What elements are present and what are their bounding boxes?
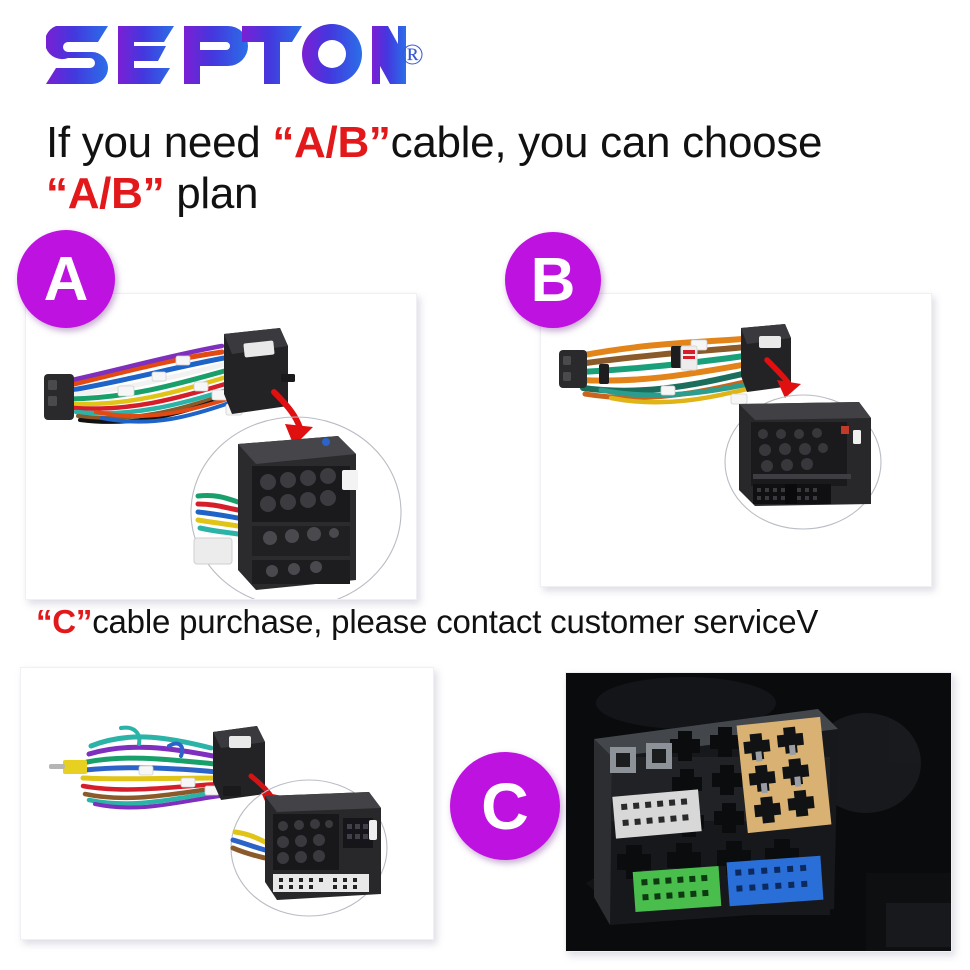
blue-module — [727, 856, 824, 906]
headline-text: If you need “A/B”cable, you can choose “… — [46, 117, 946, 219]
badge-a-label: A — [44, 244, 89, 315]
septon-wordmark — [46, 22, 406, 84]
harness-illustration-a — [26, 294, 416, 599]
septon-logo: ® — [46, 22, 446, 100]
quadlock-connector-c — [265, 792, 381, 900]
panel-b-image — [540, 293, 932, 587]
quadlock-connector-a — [238, 436, 358, 590]
panel-c-image — [20, 667, 434, 940]
quadlock-connector-b — [739, 402, 871, 506]
red-arrow-icon-a — [274, 392, 313, 446]
badge-b-label: B — [531, 245, 576, 316]
white-module — [612, 789, 701, 838]
harness-illustration-c — [21, 668, 433, 939]
panel-a-image — [25, 293, 417, 600]
panel-photo-vehicle-socket — [565, 672, 952, 952]
subline-highlight-c: “C” — [36, 603, 92, 640]
poster-canvas: ® If you need “A/B”cable, you can choose… — [0, 0, 970, 970]
socket-body — [594, 709, 838, 925]
harness-illustration-b — [541, 294, 931, 586]
green-module — [633, 866, 722, 912]
rca-connector-yellow — [49, 760, 87, 774]
subline-text: “C”cable purchase, please contact custom… — [36, 604, 966, 640]
subline-body: cable purchase, please contact customer … — [92, 603, 818, 640]
harness-module-c — [213, 726, 265, 800]
beige-module — [737, 717, 832, 833]
headline-part1: If you need — [46, 118, 272, 167]
badge-c: C — [450, 752, 560, 860]
headline-part3: plan — [164, 169, 258, 218]
headline-part2: cable, you can choose — [391, 118, 823, 167]
badge-b: B — [505, 232, 601, 328]
vehicle-socket-photo — [566, 673, 951, 951]
registered-trademark-icon: ® — [401, 40, 424, 70]
headline-highlight-ab-1: “A/B” — [272, 118, 390, 167]
headline-highlight-ab-2: “A/B” — [46, 169, 164, 218]
badge-c-label: C — [481, 768, 529, 844]
badge-a: A — [17, 230, 115, 328]
